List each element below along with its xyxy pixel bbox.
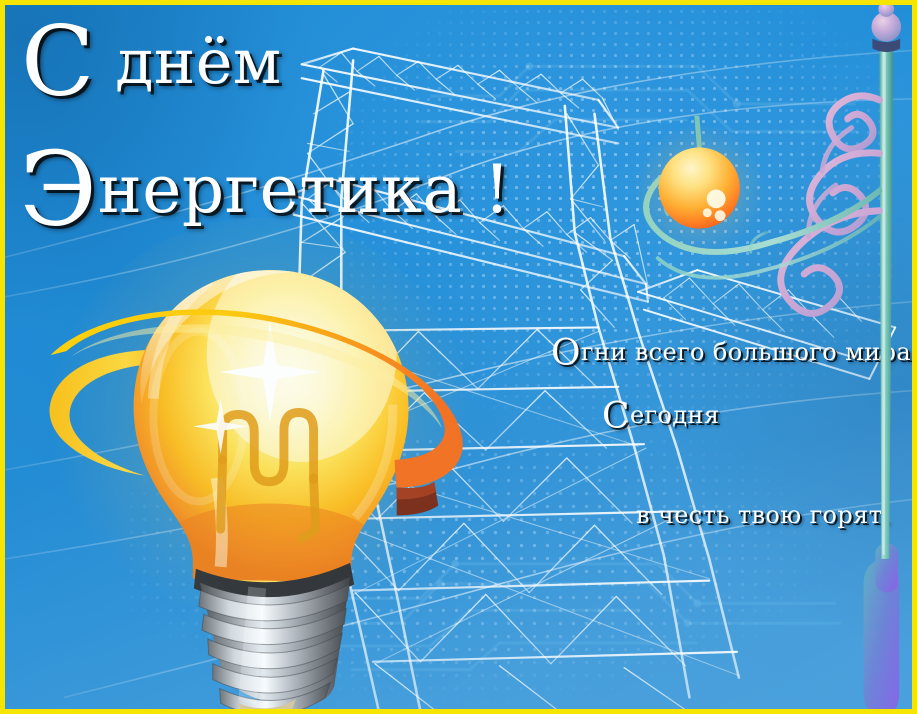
background-corner-shading — [5, 5, 912, 709]
greeting-card: С днём Энергетика ! Огни всего большого … — [0, 0, 917, 714]
